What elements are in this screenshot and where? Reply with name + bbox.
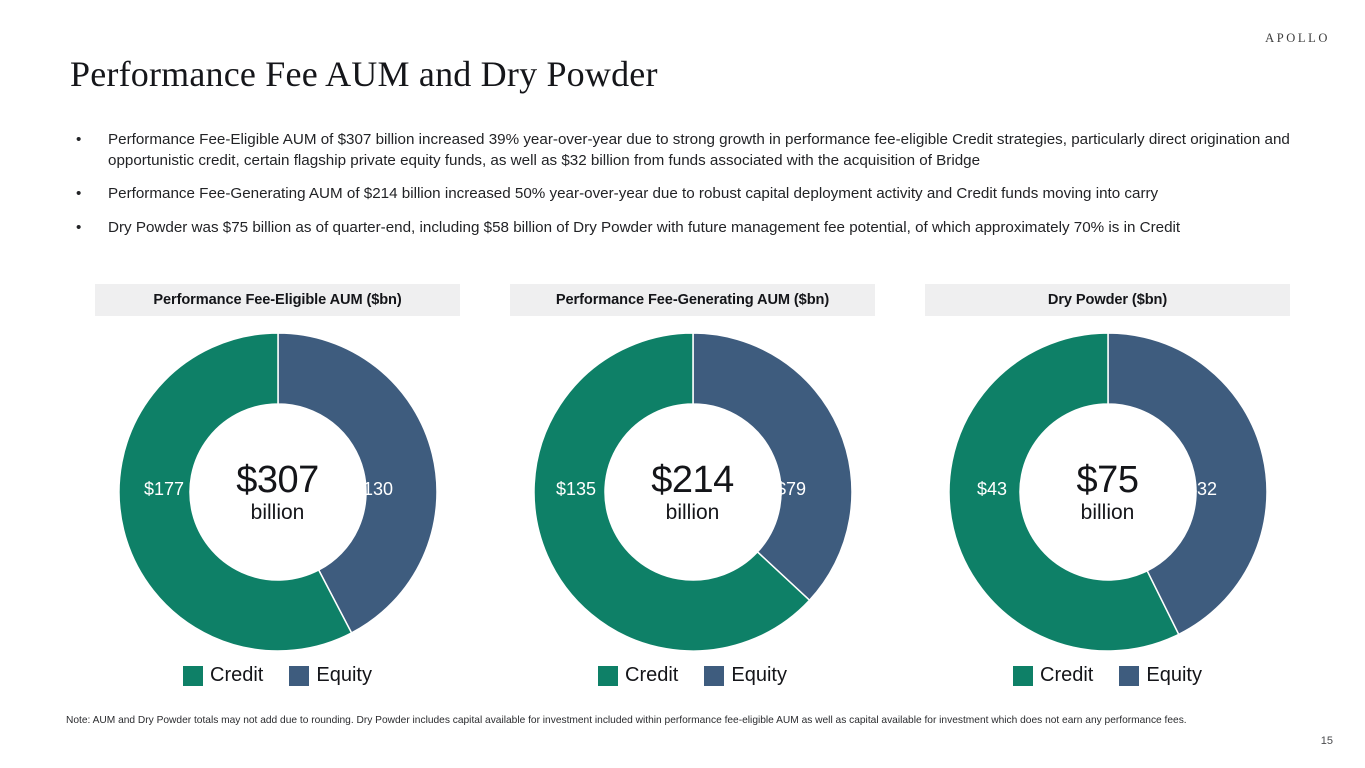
legend-swatch-equity xyxy=(289,666,309,686)
list-item: • Performance Fee-Generating AUM of $214… xyxy=(70,184,1332,205)
legend-label-equity: Equity xyxy=(316,664,372,687)
chart-legend: Credit Equity xyxy=(95,664,460,687)
legend-label-credit: Credit xyxy=(210,664,263,687)
apollo-logo: APOLLO xyxy=(1265,31,1330,46)
bullet-marker-icon: • xyxy=(76,218,81,239)
slide: APOLLO Performance Fee AUM and Dry Powde… xyxy=(0,0,1365,768)
legend-label-equity: Equity xyxy=(1146,664,1202,687)
legend-label-equity: Equity xyxy=(731,664,787,687)
segment-label-equity: $79 xyxy=(776,479,806,500)
legend-swatch-equity xyxy=(704,666,724,686)
list-item: • Dry Powder was $75 billion as of quart… xyxy=(70,218,1332,239)
legend-swatch-credit xyxy=(598,666,618,686)
segment-label-credit: $135 xyxy=(556,479,596,500)
bullet-list: • Performance Fee-Eligible AUM of $307 b… xyxy=(70,130,1332,238)
page-title: Performance Fee AUM and Dry Powder xyxy=(70,53,658,95)
donut-chart: $214 billion $135 $79 xyxy=(510,333,875,651)
segment-label-credit: $43 xyxy=(977,479,1007,500)
chart-legend: Credit Equity xyxy=(510,664,875,687)
footnote: Note: AUM and Dry Powder totals may not … xyxy=(66,714,1326,728)
chart-title: Dry Powder ($bn) xyxy=(925,284,1290,316)
donut-chart: $75 billion $43 $32 xyxy=(925,333,1290,651)
bullet-text: Performance Fee-Generating AUM of $214 b… xyxy=(108,185,1158,202)
chart-legend: Credit Equity xyxy=(925,664,1290,687)
bullet-marker-icon: • xyxy=(76,130,81,151)
segment-label-credit: $177 xyxy=(144,479,184,500)
bullet-text: Dry Powder was $75 billion as of quarter… xyxy=(108,219,1180,236)
legend-item-credit: Credit xyxy=(183,664,263,687)
chart-title: Performance Fee-Eligible AUM ($bn) xyxy=(95,284,460,316)
chart-panel-dry-powder: Dry Powder ($bn) $75 billion $43 $32 Cre… xyxy=(925,284,1290,687)
chart-title: Performance Fee-Generating AUM ($bn) xyxy=(510,284,875,316)
legend-swatch-credit xyxy=(1013,666,1033,686)
segment-label-equity: $130 xyxy=(353,479,393,500)
legend-label-credit: Credit xyxy=(1040,664,1093,687)
legend-item-credit: Credit xyxy=(1013,664,1093,687)
page-number: 15 xyxy=(1321,735,1333,747)
legend-swatch-equity xyxy=(1119,666,1139,686)
chart-panel-fee-generating-aum: Performance Fee-Generating AUM ($bn) $21… xyxy=(510,284,875,687)
bullet-text: Performance Fee-Eligible AUM of $307 bil… xyxy=(108,131,1290,169)
charts-row: Performance Fee-Eligible AUM ($bn) $307 … xyxy=(0,284,1365,694)
legend-label-credit: Credit xyxy=(625,664,678,687)
legend-item-equity: Equity xyxy=(704,664,787,687)
legend-item-equity: Equity xyxy=(1119,664,1202,687)
bullet-marker-icon: • xyxy=(76,184,81,205)
donut-segment-equity xyxy=(693,333,852,600)
chart-panel-fee-eligible-aum: Performance Fee-Eligible AUM ($bn) $307 … xyxy=(95,284,460,687)
list-item: • Performance Fee-Eligible AUM of $307 b… xyxy=(70,130,1332,171)
segment-label-equity: $32 xyxy=(1187,479,1217,500)
legend-item-equity: Equity xyxy=(289,664,372,687)
legend-swatch-credit xyxy=(183,666,203,686)
legend-item-credit: Credit xyxy=(598,664,678,687)
donut-chart: $307 billion $177 $130 xyxy=(95,333,460,651)
